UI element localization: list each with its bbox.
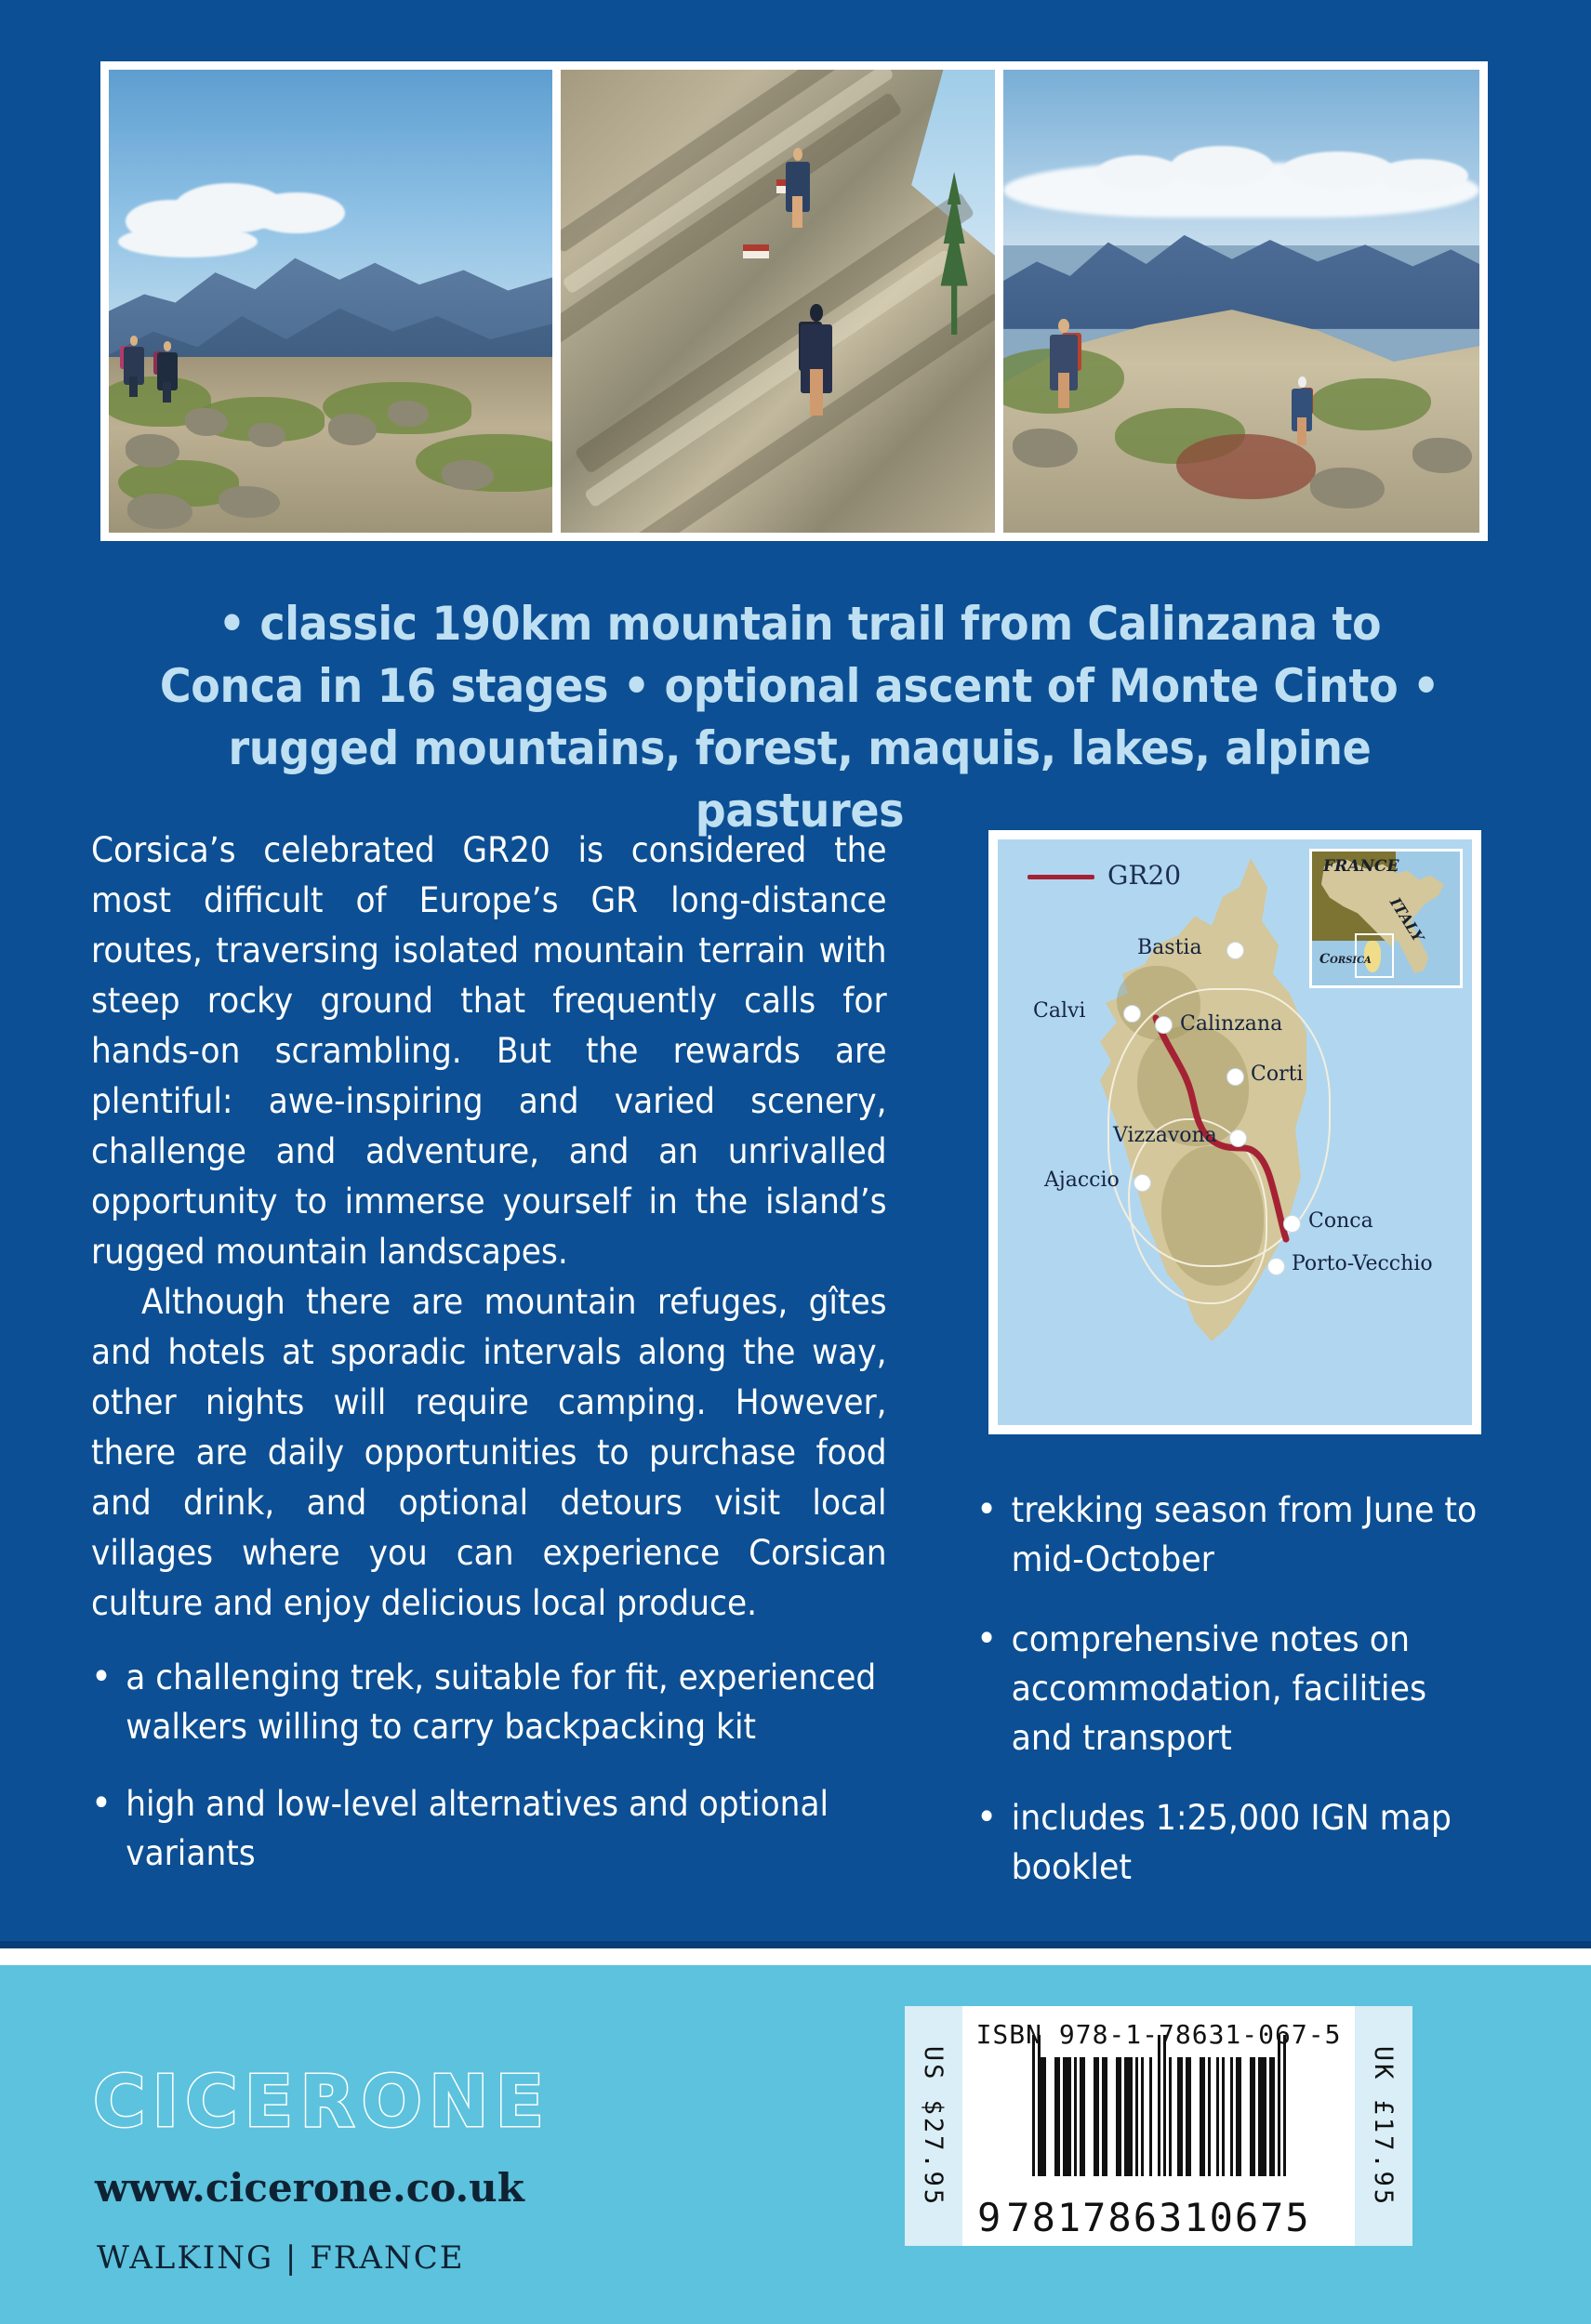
route-overview-map: GR20 Bastia Calvi Calinzana Corti Vizzav… — [988, 830, 1481, 1434]
barcode-block: US $27.95 ISBN 978-1-78631-067-5 9 78178… — [905, 2006, 1412, 2246]
list-item: • a challenging trek, suitable for fit, … — [91, 1653, 904, 1751]
list-item: • high and low-level alternatives and op… — [91, 1779, 904, 1878]
hiker-figure — [1050, 319, 1078, 408]
blurb-text: Corsica’s celebrated GR20 is considered … — [91, 825, 887, 1629]
headline-features: • classic 190km mountain trail from Cali… — [150, 593, 1450, 842]
book-back-cover: • classic 190km mountain trail from Cali… — [0, 0, 1591, 2324]
rock — [1310, 468, 1385, 508]
blurb-paragraph-1: Corsica’s celebrated GR20 is considered … — [91, 825, 887, 1277]
us-price-sidebar: US $27.95 — [905, 2006, 962, 2246]
publisher-logo: CICERONE — [93, 2061, 550, 2144]
rock — [442, 460, 494, 490]
hiker-figure — [157, 341, 178, 403]
list-item: • includes 1:25,000 IGN map booklet — [976, 1793, 1483, 1892]
bullet-dot-icon: • — [976, 1793, 1012, 1892]
list-item: • comprehensive notes on accommodation, … — [976, 1615, 1483, 1763]
hiker-figure — [1292, 376, 1312, 445]
climber-lower — [801, 304, 832, 416]
uk-price-label: UK £17.95 — [1370, 2045, 1399, 2206]
right-feature-list: • trekking season from June to mid-Octob… — [976, 1486, 1483, 1922]
cloud — [1096, 155, 1180, 191]
footer-divider-rule — [0, 1941, 1591, 1948]
rock — [185, 408, 228, 436]
list-item-label: comprehensive notes on accommodation, fa… — [1012, 1615, 1484, 1763]
bullet-dot-icon: • — [976, 1615, 1012, 1763]
rock — [248, 423, 285, 447]
rock — [127, 494, 192, 529]
barcode-core: ISBN 978-1-78631-067-5 9 781786310675 — [962, 2006, 1355, 2246]
category-label: WALKING | FRANCE — [97, 2239, 465, 2277]
footer-white-spacer — [0, 1948, 1591, 1965]
rock — [126, 434, 179, 468]
blurb-paragraph-2: Although there are mountain refuges, gît… — [91, 1277, 887, 1629]
publisher-website[interactable]: www.cicerone.co.uk — [95, 2165, 524, 2211]
city-dot-porto-vecchio — [1267, 1258, 1285, 1275]
city-dot-calinzana — [1155, 1016, 1173, 1034]
inset-label-france: FRANCE — [1323, 857, 1399, 876]
city-label-calvi: Calvi — [1033, 999, 1085, 1023]
cloud — [1375, 159, 1468, 192]
uk-price-sidebar: UK £17.95 — [1355, 2006, 1412, 2246]
city-label-ajaccio: Ajaccio — [1044, 1169, 1120, 1192]
photo-hikers-on-ridge — [109, 70, 552, 533]
rock — [1412, 438, 1472, 473]
map-canvas: GR20 Bastia Calvi Calinzana Corti Vizzav… — [998, 839, 1472, 1425]
cloud — [248, 192, 345, 233]
city-label-bastia: Bastia — [1137, 936, 1202, 959]
list-item-label: trekking season from June to mid-October — [1012, 1486, 1484, 1584]
city-label-vizzavona: Vizzavona — [1113, 1124, 1217, 1147]
rock — [388, 401, 429, 427]
city-dot-vizzavona — [1229, 1129, 1247, 1147]
cloud — [118, 226, 258, 257]
bullet-dot-icon: • — [91, 1779, 126, 1878]
bullet-dot-icon: • — [91, 1653, 126, 1751]
left-feature-list: • a challenging trek, suitable for fit, … — [91, 1653, 904, 1906]
list-item-label: includes 1:25,000 IGN map booklet — [1012, 1793, 1484, 1892]
photo-scrambling-on-rock — [561, 70, 995, 533]
photo-ridge-walkers — [1003, 70, 1479, 533]
rock — [328, 414, 377, 445]
barcode-bars — [1032, 2057, 1286, 2176]
city-dot-calvi — [1123, 1005, 1141, 1023]
city-label-porto-vecchio: Porto-Vecchio — [1292, 1252, 1433, 1275]
us-price-label: US $27.95 — [920, 2045, 948, 2206]
bullet-dot-icon: • — [976, 1486, 1012, 1584]
rock — [219, 486, 280, 518]
cloud — [1171, 146, 1273, 187]
list-item-label: high and low-level alternatives and opti… — [126, 1779, 904, 1878]
locator-inset-map: FRANCE ITALY Corsica — [1309, 849, 1463, 988]
list-item-label: a challenging trek, suitable for fit, ex… — [126, 1653, 904, 1751]
photo-strip — [100, 61, 1488, 541]
city-label-conca: Conca — [1308, 1209, 1373, 1233]
city-dot-ajaccio — [1134, 1174, 1151, 1192]
city-dot-bastia — [1226, 942, 1244, 959]
city-label-calinzana: Calinzana — [1180, 1012, 1282, 1036]
waymark-paint — [743, 244, 769, 258]
city-label-corti: Corti — [1251, 1063, 1303, 1086]
list-item: • trekking season from June to mid-Octob… — [976, 1486, 1483, 1584]
inset-label-corsica: Corsica — [1319, 952, 1372, 967]
rock — [1013, 429, 1078, 468]
city-dot-conca — [1283, 1215, 1301, 1233]
climber-upper — [786, 148, 810, 228]
hiker-figure — [124, 336, 144, 397]
city-dot-corti — [1226, 1068, 1244, 1086]
barcode-digits: 781786310675 — [962, 2195, 1355, 2240]
